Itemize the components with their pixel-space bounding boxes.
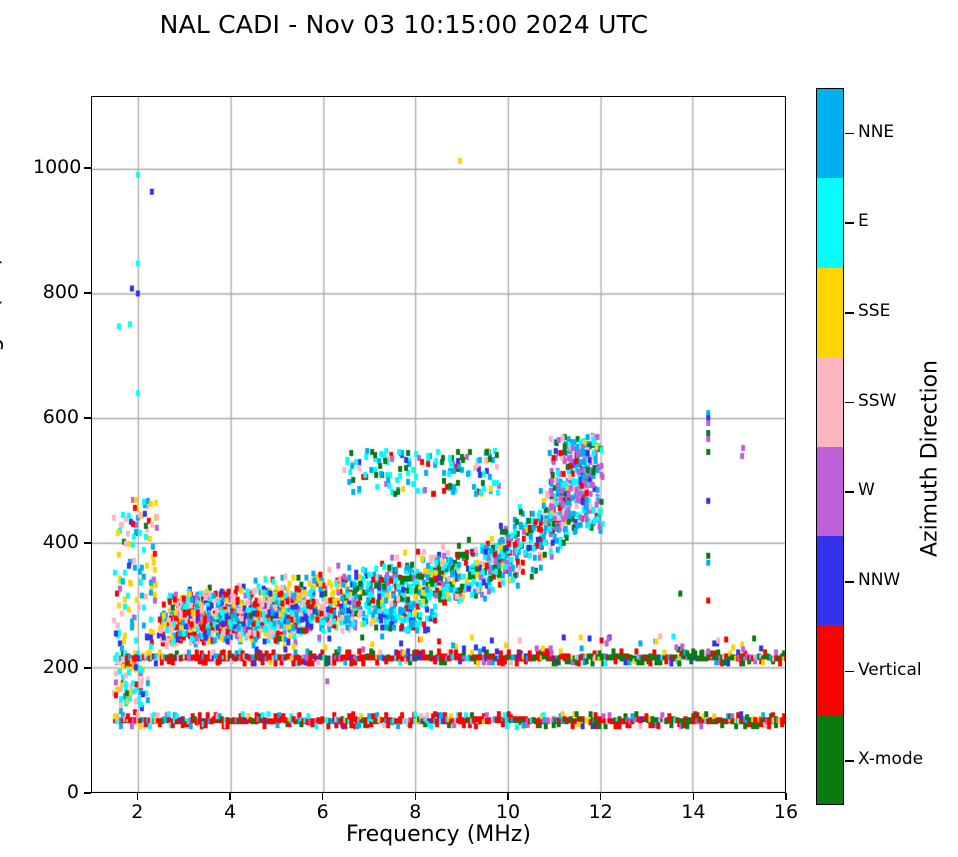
- colorbar-tickmark: [845, 133, 854, 135]
- x-tick-label-4: 4: [200, 803, 260, 822]
- x-tick-label-10: 10: [478, 803, 538, 822]
- y-tickmark: [84, 792, 91, 794]
- colorbar-band-nnw: [817, 536, 843, 625]
- y-tickmark: [84, 667, 91, 669]
- colorbar-label-ssw: SSW: [858, 393, 896, 410]
- colorbar-label-x-mode: X-mode: [858, 751, 923, 768]
- y-tickmark: [84, 417, 91, 419]
- x-tickmark: [693, 793, 695, 800]
- colorbar-tickmark: [845, 581, 854, 583]
- colorbar-label-e: E: [858, 213, 869, 230]
- colorbar-band-x-mode: [817, 715, 843, 804]
- colorbar: [816, 88, 844, 805]
- colorbar-band-ssw: [817, 357, 843, 446]
- y-tick-label-400: 400: [33, 533, 79, 552]
- y-axis-label: Virtual height (km): [0, 231, 5, 491]
- x-tick-label-8: 8: [385, 803, 445, 822]
- colorbar-label-w: W: [858, 482, 875, 499]
- y-tick-label-0: 0: [33, 783, 79, 802]
- x-tickmark: [600, 793, 602, 800]
- colorbar-band-w: [817, 447, 843, 536]
- y-tickmark: [84, 542, 91, 544]
- colorbar-tickmark: [845, 312, 854, 314]
- y-tickmark: [84, 167, 91, 169]
- colorbar-label-sse: SSE: [858, 303, 890, 320]
- colorbar-label-nnw: NNW: [858, 572, 900, 589]
- y-tick-label-1000: 1000: [33, 158, 79, 177]
- y-tick-label-200: 200: [33, 658, 79, 677]
- y-tick-label-600: 600: [33, 408, 79, 427]
- page-title: NAL CADI - Nov 03 10:15:00 2024 UTC: [0, 10, 808, 39]
- x-tick-label-2: 2: [107, 803, 167, 822]
- colorbar-tickmark: [845, 491, 854, 493]
- x-tick-label-16: 16: [756, 803, 816, 822]
- x-tickmark: [785, 793, 787, 800]
- x-tickmark: [415, 793, 417, 800]
- colorbar-label-nne: NNE: [858, 124, 894, 141]
- x-tick-label-14: 14: [663, 803, 723, 822]
- colorbar-band-vertical: [817, 625, 843, 714]
- x-tickmark: [137, 793, 139, 800]
- x-tickmark: [229, 793, 231, 800]
- colorbar-tickmark: [845, 671, 854, 673]
- colorbar-tickmark: [845, 222, 854, 224]
- colorbar-band-nne: [817, 89, 843, 178]
- x-tickmark: [322, 793, 324, 800]
- x-tick-label-12: 12: [571, 803, 631, 822]
- plot-area: [91, 96, 786, 793]
- y-tick-label-800: 800: [33, 283, 79, 302]
- x-tick-label-6: 6: [293, 803, 353, 822]
- x-axis-label: Frequency (MHz): [91, 822, 786, 847]
- y-tickmark: [84, 292, 91, 294]
- colorbar-label-vertical: Vertical: [858, 662, 922, 679]
- colorbar-title: Azimuth Direction: [918, 249, 943, 669]
- x-tickmark: [507, 793, 509, 800]
- colorbar-tickmark: [845, 760, 854, 762]
- ionogram-scatter-canvas: [92, 97, 785, 792]
- colorbar-band-sse: [817, 268, 843, 357]
- colorbar-tickmark: [845, 402, 854, 404]
- colorbar-band-e: [817, 178, 843, 267]
